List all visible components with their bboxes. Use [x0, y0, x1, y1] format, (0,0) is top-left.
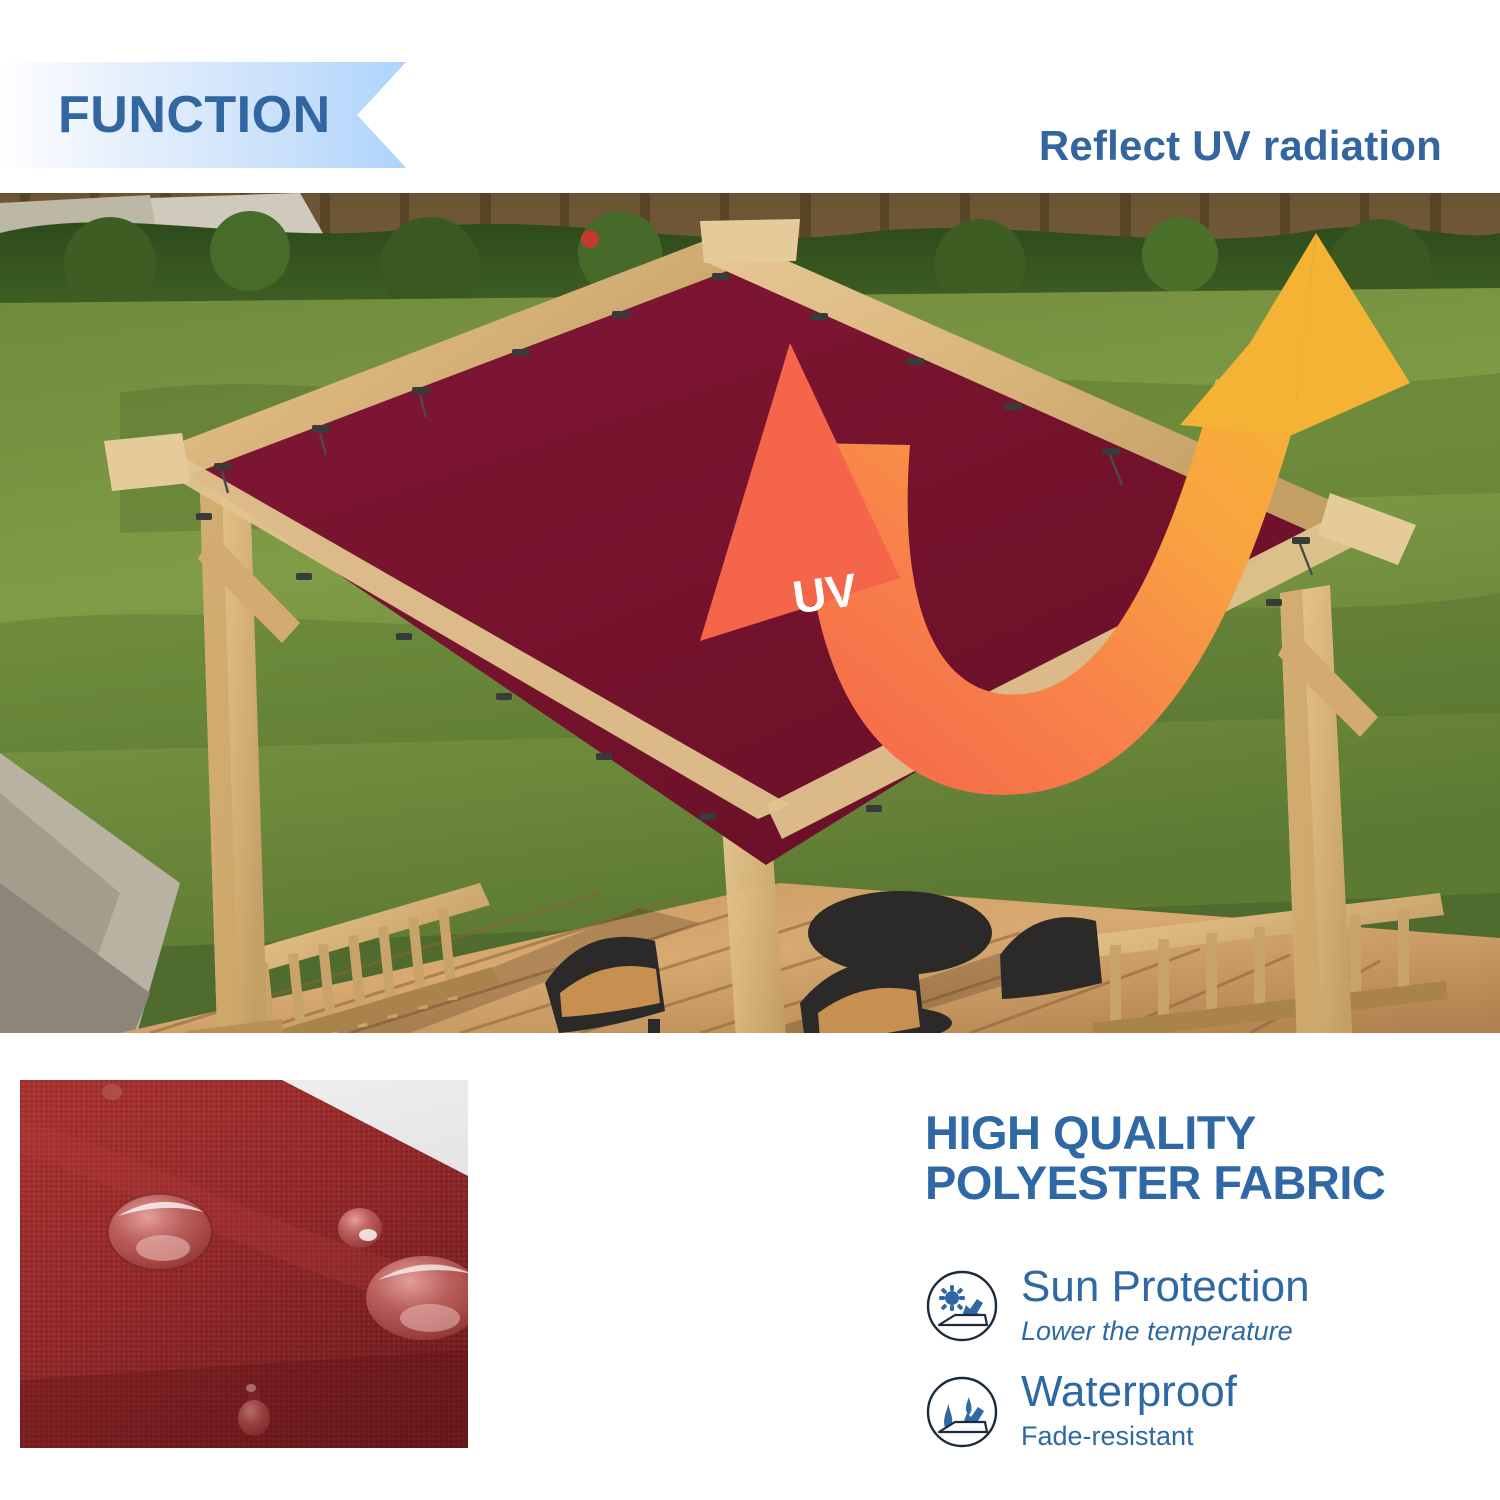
function-banner-label: FUNCTION: [58, 89, 331, 141]
product-feature-page: FUNCTION Reflect UV radiation: [0, 0, 1500, 1500]
feature-subtitle: Fade-resistant: [1021, 1419, 1237, 1454]
function-banner: FUNCTION: [0, 62, 406, 168]
hero-caption: Reflect UV radiation: [1039, 122, 1442, 170]
info-block: HIGH QUALITY POLYESTER FABRIC: [925, 1108, 1470, 1474]
hero-photo-illustration: [0, 193, 1500, 1033]
waterproof-icon: [925, 1375, 999, 1449]
sun-protection-icon-glyph: [925, 1269, 999, 1343]
info-title-line-2: POLYESTER FABRIC: [925, 1158, 1470, 1208]
water-droplet: [338, 1208, 382, 1248]
feature-sun-protection-text: Sun Protection Lower the temperature: [1021, 1264, 1310, 1349]
feature-title: Waterproof: [1021, 1369, 1237, 1415]
feature-waterproof-text: Waterproof Fade-resistant: [1021, 1369, 1237, 1454]
water-droplet: [102, 1084, 122, 1100]
water-droplet: [108, 1194, 212, 1270]
waterproof-icon-glyph: [925, 1375, 999, 1449]
hero-photo-pergola: [0, 193, 1500, 1033]
info-title: HIGH QUALITY POLYESTER FABRIC: [925, 1108, 1470, 1208]
sun-protection-icon: [925, 1269, 999, 1343]
feature-title: Sun Protection: [1021, 1264, 1310, 1310]
fabric-droplet-photo: [20, 1080, 468, 1448]
feature-sun-protection: Sun Protection Lower the temperature: [925, 1264, 1470, 1349]
info-title-line-1: HIGH QUALITY: [925, 1108, 1470, 1158]
feature-waterproof: Waterproof Fade-resistant: [925, 1369, 1470, 1454]
fabric-droplet-illustration: [20, 1080, 468, 1448]
feature-subtitle: Lower the temperature: [1021, 1314, 1310, 1349]
